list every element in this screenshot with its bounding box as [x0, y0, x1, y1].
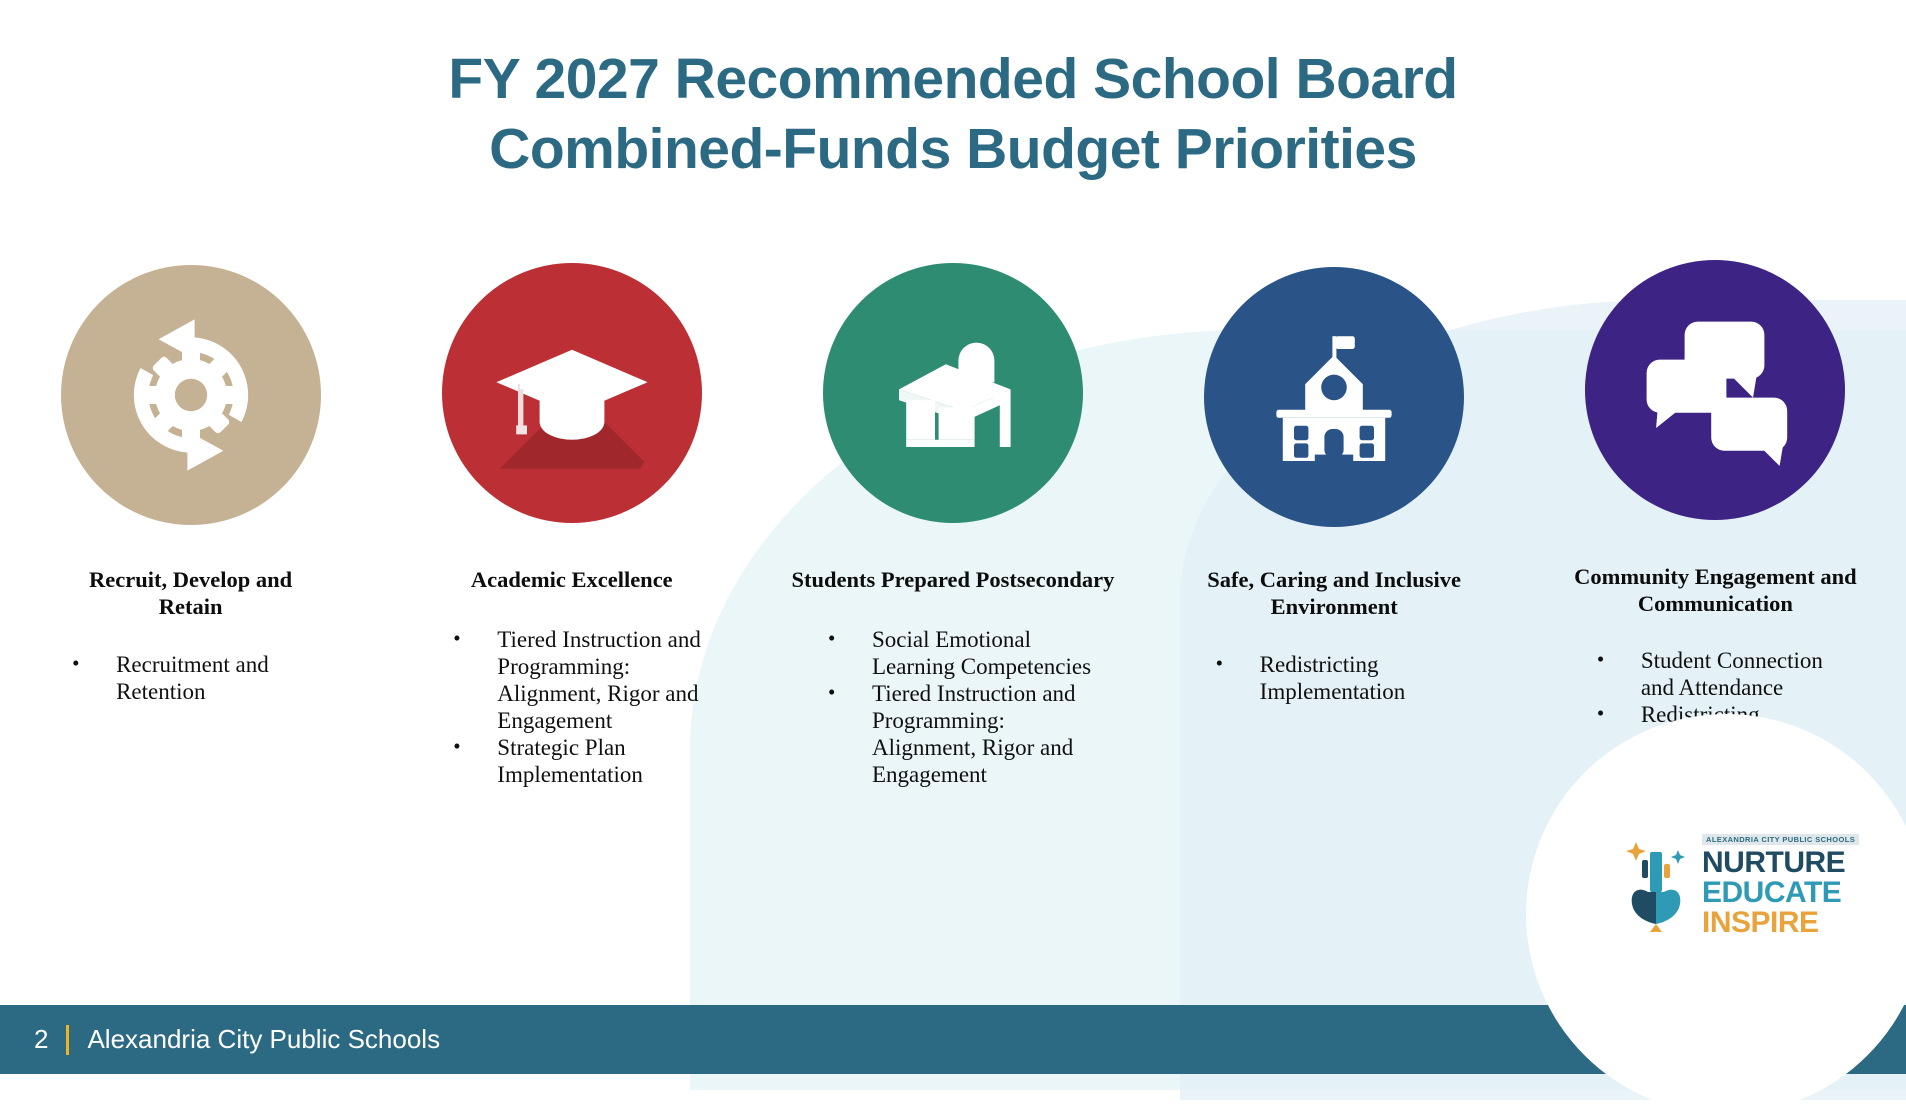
desk-lamp-icon	[823, 263, 1083, 523]
title-line-1: FY 2027 Recommended School Board	[0, 44, 1906, 114]
list-item: Strategic Plan Implementation	[439, 734, 704, 788]
column-heading: Recruit, Develop and Retain	[58, 567, 323, 620]
page-title: FY 2027 Recommended School Board Combine…	[0, 44, 1906, 184]
speech-bubbles-icon	[1585, 260, 1845, 520]
column-bullet-list: Redistricting Implementation	[1202, 651, 1467, 705]
acps-logo: ALEXANDRIA CITY PUBLIC SCHOOLS NURTURE E…	[1618, 814, 1868, 954]
graduation-cap-icon	[442, 263, 702, 523]
list-item: Tiered Instruction and Programming: Alig…	[814, 680, 1092, 788]
logo-word-inspire: INSPIRE	[1702, 908, 1859, 938]
tree-logo-icon	[1618, 834, 1696, 934]
column-heading: Academic Excellence	[439, 567, 704, 594]
column-bullet-list: Social Emotional Learning Competencies T…	[814, 626, 1092, 788]
process-gear-icon	[61, 265, 321, 525]
column-bullet-list: Recruitment and Retention	[58, 651, 323, 705]
list-item: Student Connection and Attendance	[1583, 647, 1848, 701]
priority-columns: Recruit, Develop and Retain Recruitment …	[0, 265, 1906, 788]
title-line-2: Combined-Funds Budget Priorities	[0, 114, 1906, 184]
logo-word-nurture: NURTURE	[1702, 848, 1859, 878]
priority-column-recruit-develop-retain: Recruit, Develop and Retain Recruitment …	[0, 265, 381, 788]
priority-column-community-engagement: Community Engagement and Communication S…	[1525, 265, 1906, 788]
priority-column-safe-caring-inclusive: Safe, Caring and Inclusive Environment R…	[1144, 265, 1525, 788]
priority-column-academic-excellence: Academic Excellence Tiered Instruction a…	[381, 265, 762, 788]
school-building-icon	[1204, 267, 1464, 527]
priority-column-students-prepared-postsecondary: Students Prepared Postsecondary Social E…	[762, 265, 1143, 788]
footer-content: 2 Alexandria City Public Schools	[34, 1024, 440, 1055]
footer-divider	[66, 1025, 69, 1055]
logo-word-educate: EDUCATE	[1702, 878, 1859, 908]
page-number: 2	[34, 1024, 48, 1055]
column-heading: Community Engagement and Communication	[1565, 564, 1865, 617]
list-item: Redistricting Implementation	[1202, 651, 1467, 705]
list-item: Social Emotional Learning Competencies	[814, 626, 1092, 680]
logo-tagline: ALEXANDRIA CITY PUBLIC SCHOOLS	[1702, 834, 1859, 846]
column-heading: Students Prepared Postsecondary	[788, 567, 1118, 594]
column-bullet-list: Tiered Instruction and Programming: Alig…	[439, 626, 704, 788]
list-item: Tiered Instruction and Programming: Alig…	[439, 626, 704, 734]
list-item: Recruitment and Retention	[58, 651, 323, 705]
organization-name: Alexandria City Public Schools	[87, 1024, 440, 1055]
column-heading: Safe, Caring and Inclusive Environment	[1184, 567, 1484, 620]
